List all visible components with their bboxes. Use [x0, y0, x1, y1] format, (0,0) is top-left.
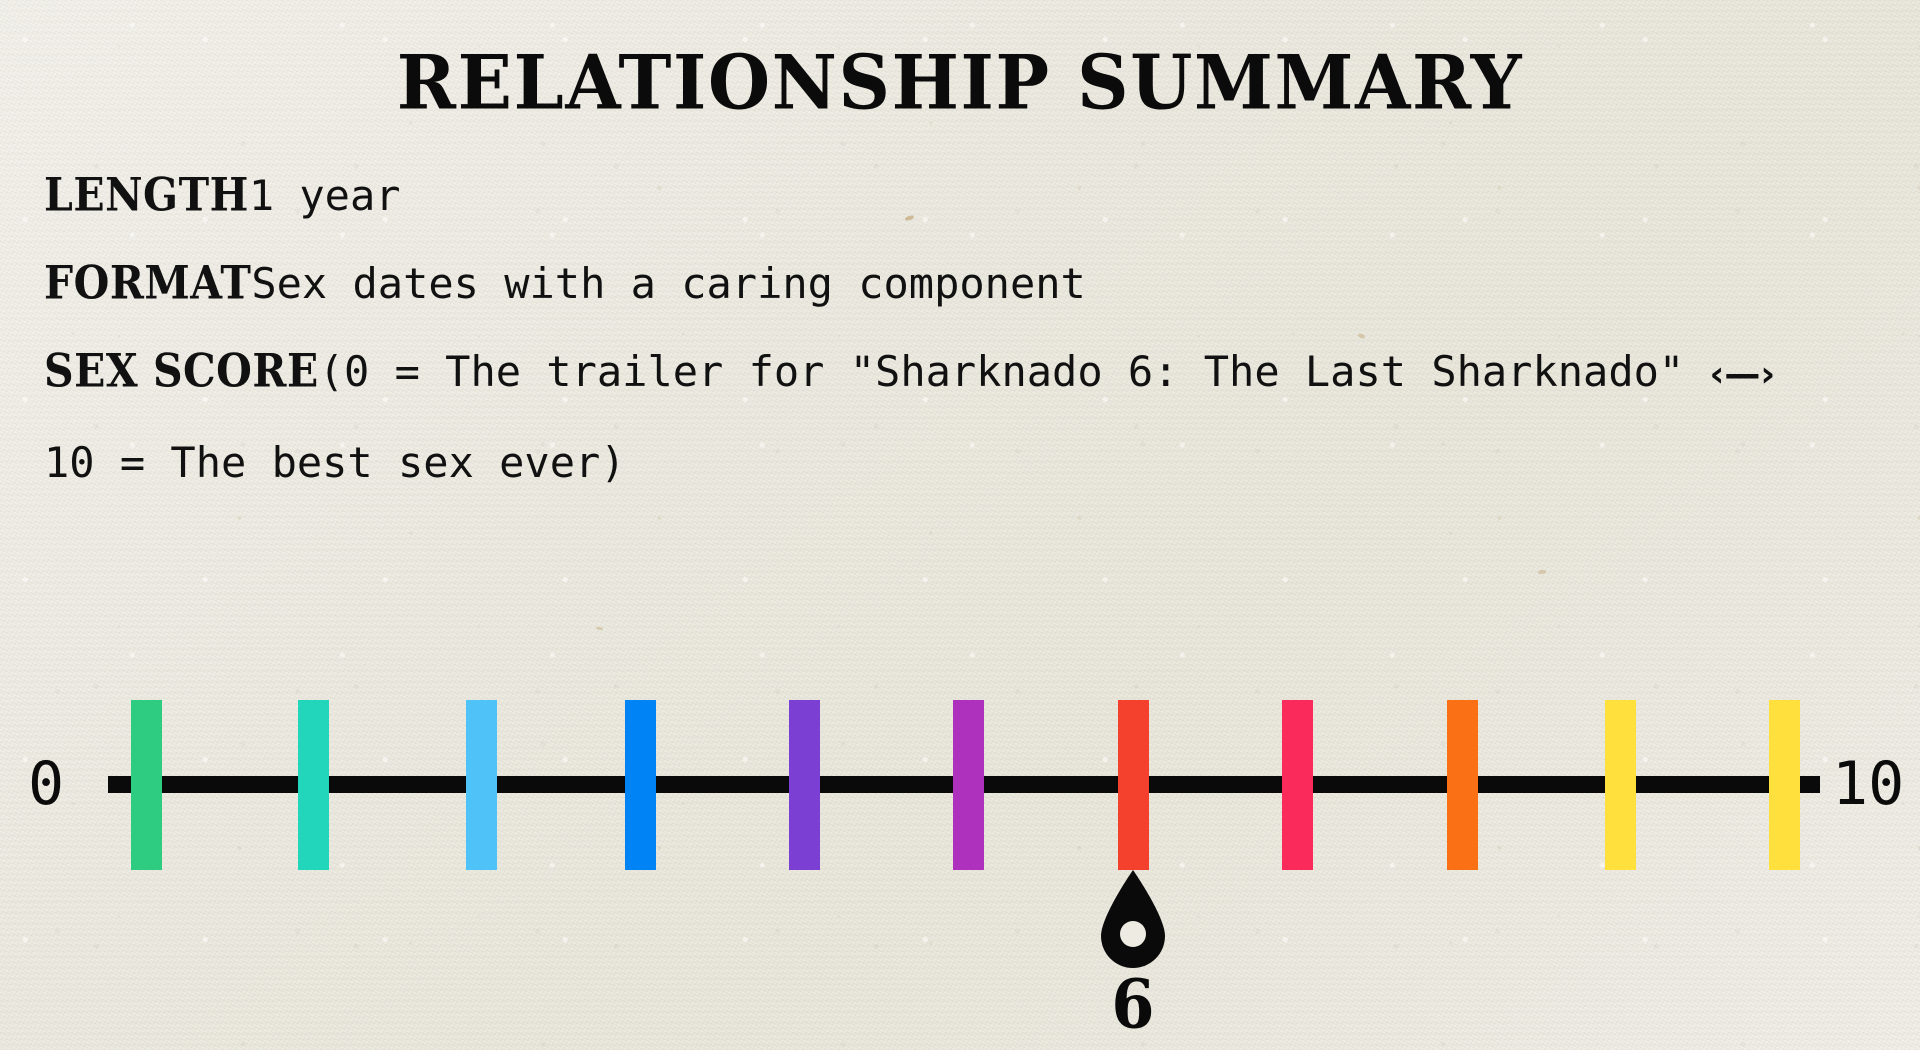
field-sex-score: SEX SCORE(0 = The trailer for "Sharknado…: [44, 328, 1834, 507]
scale-marker-value: 6: [1073, 972, 1193, 1039]
paper-fleck: [596, 626, 603, 630]
scale-tick-2[interactable]: [466, 700, 497, 870]
field-format: FORMATSex dates with a caring component: [44, 240, 1874, 328]
field-sex-score-text-before: (0 = The trailer for "Sharknado 6: The L…: [319, 347, 1710, 396]
scale-tick-7[interactable]: [1282, 700, 1313, 870]
scale-tick-0[interactable]: [131, 700, 162, 870]
page-title: RELATIONSHIP SUMMARY: [0, 38, 1920, 127]
teardrop-pin-icon: [1097, 868, 1169, 972]
scale-tick-4[interactable]: [789, 700, 820, 870]
field-length-label: LENGTH: [44, 145, 249, 244]
scale-tick-8[interactable]: [1447, 700, 1478, 870]
double-arrow-icon: ‹—›: [1709, 354, 1775, 395]
summary-fields: LENGTH1 year FORMATSex dates with a cari…: [44, 152, 1874, 507]
scale-marker: 6: [0, 868, 1920, 1048]
scale-max-label: 10: [1832, 754, 1904, 814]
sex-score-scale: 0 10: [0, 700, 1920, 860]
field-sex-score-text-after: 10 = The best sex ever): [44, 438, 626, 487]
field-format-value: Sex dates with a caring component: [251, 259, 1085, 308]
paper-page: RELATIONSHIP SUMMARY LENGTH1 year FORMAT…: [0, 0, 1920, 1050]
scale-tick-5[interactable]: [953, 700, 984, 870]
scale-min-label: 0: [28, 754, 64, 814]
paper-fleck: [1538, 570, 1546, 575]
scale-tick-9[interactable]: [1605, 700, 1636, 870]
field-sex-score-label: SEX SCORE: [44, 321, 319, 420]
field-length-value: 1 year: [249, 171, 401, 220]
scale-tick-3[interactable]: [625, 700, 656, 870]
scale-tick-10[interactable]: [1769, 700, 1800, 870]
scale-marker-inner: 6: [1073, 868, 1193, 1036]
field-format-label: FORMAT: [44, 233, 251, 332]
scale-tick-6[interactable]: [1118, 700, 1149, 870]
field-length: LENGTH1 year: [44, 152, 1874, 240]
scale-tick-1[interactable]: [298, 700, 329, 870]
